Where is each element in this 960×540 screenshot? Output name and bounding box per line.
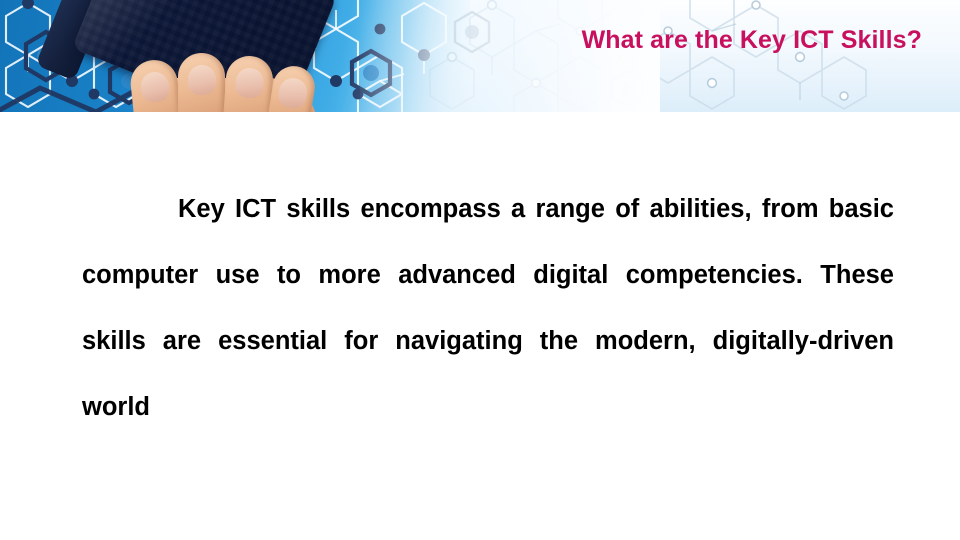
banner-fade-overlay <box>360 0 660 112</box>
finger <box>178 53 225 112</box>
presentation-slide: What are the Key ICT Skills? Key ICT ski… <box>0 0 960 540</box>
slide-body: Key ICT skills encompass a range of abil… <box>82 176 894 506</box>
slide-title: What are the Key ICT Skills? <box>582 26 922 55</box>
finger <box>128 58 182 112</box>
fingernail <box>277 76 309 110</box>
finger <box>223 54 275 112</box>
fingernail <box>139 71 170 104</box>
finger <box>266 63 317 112</box>
body-paragraph: Key ICT skills encompass a range of abil… <box>82 176 894 506</box>
fingernail <box>234 67 264 99</box>
hand-holding-device <box>128 52 324 112</box>
header-banner: What are the Key ICT Skills? <box>0 0 960 112</box>
fingernail <box>188 65 216 95</box>
